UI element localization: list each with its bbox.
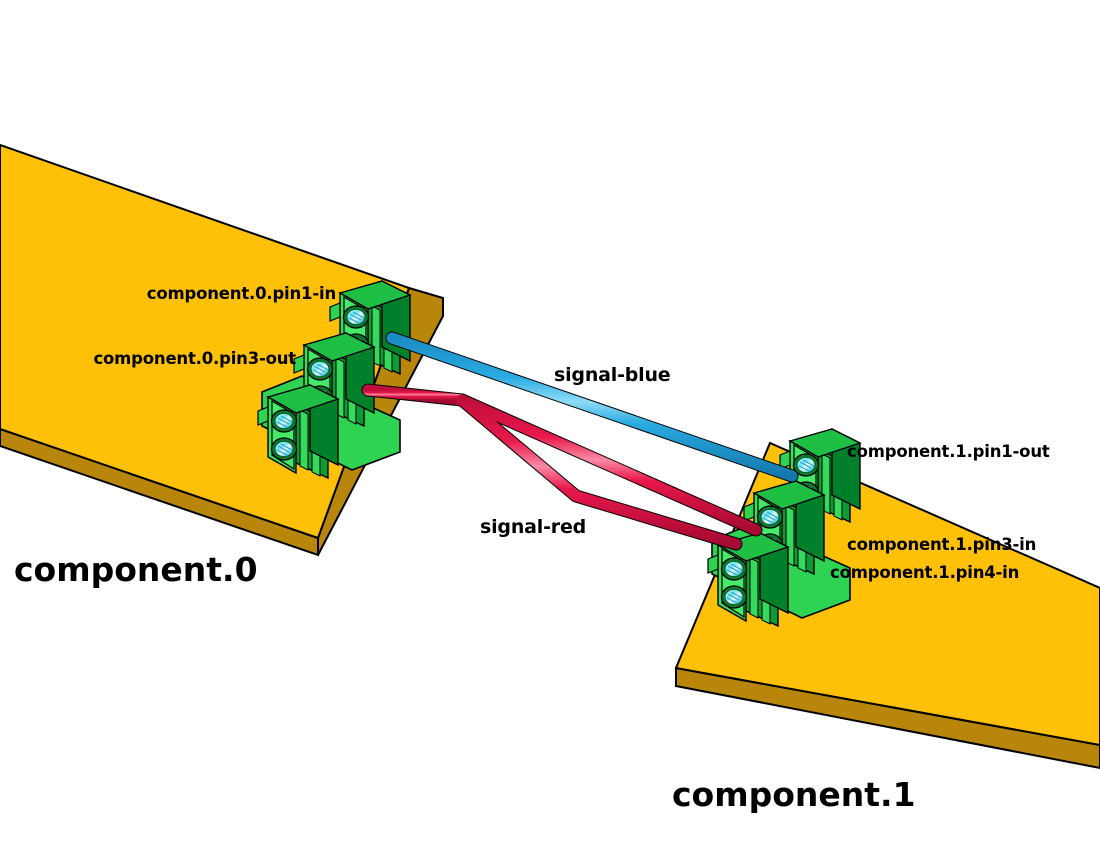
component-title-1: component.1 [672,778,916,811]
pin-label-component-0-pin1-in: component.0.pin1-in [147,286,336,303]
pin-label-component-1-pin4-in: component.1.pin4-in [830,565,1019,582]
pin-label-component-1-pin1-out: component.1.pin1-out [847,444,1050,461]
signal-label-blue: signal-blue [554,366,671,385]
signal-label-red: signal-red [480,518,586,537]
diagram-canvas: component.0.pin1-in component.0.pin3-out… [0,0,1100,850]
pin-label-component-1-pin3-in: component.1.pin3-in [847,537,1036,554]
pin-label-component-0-pin3-out: component.0.pin3-out [93,351,296,368]
component-title-0: component.0 [14,553,258,586]
wiring-diagram-svg [0,0,1100,850]
